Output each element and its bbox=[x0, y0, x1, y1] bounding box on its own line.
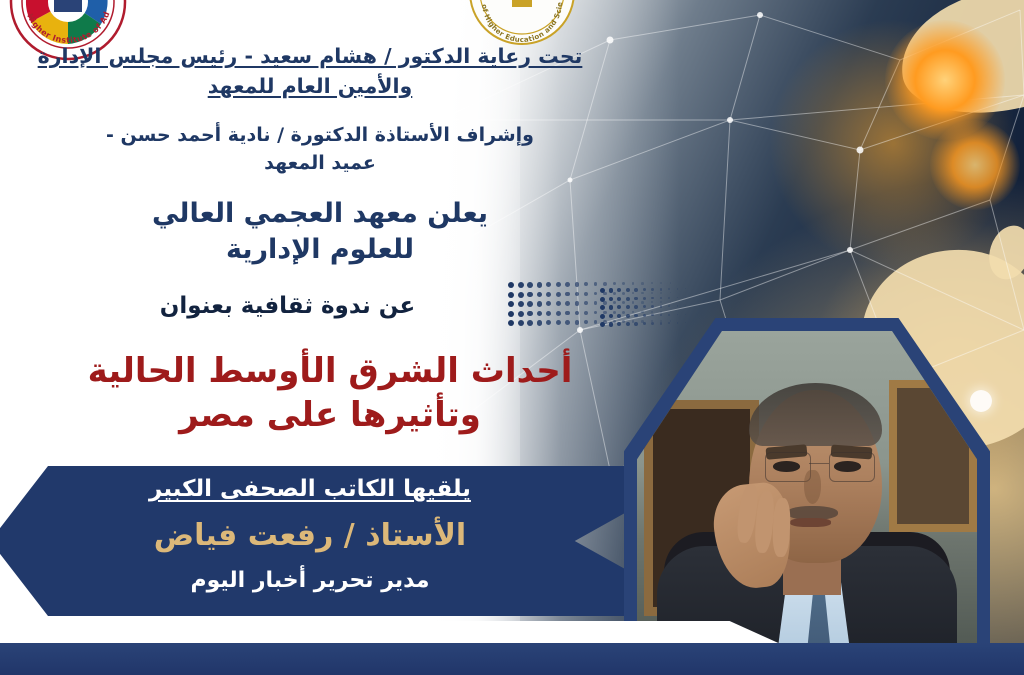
ministry-seal-logo: of Higher Education and Scientific Resea… bbox=[468, 0, 576, 46]
page-title: أحداث الشرق الأوسط الحالية وتأثيرها على … bbox=[0, 350, 660, 437]
title-line-2: وتأثيرها على مصر bbox=[0, 394, 660, 438]
patron-text: تحت رعاية الدكتور / هشام سعيد - رئيس مجل… bbox=[0, 42, 620, 101]
seminar-subtitle: عن ندوة ثقافية بعنوان bbox=[0, 292, 575, 322]
speaker-role: مدير تحرير أخبار اليوم bbox=[30, 568, 590, 593]
speaker-name: الأستاذ / رفعت فياض bbox=[30, 518, 590, 553]
seminar-poster: Higher Institute of Administrative Scien… bbox=[0, 0, 1024, 675]
announce-line-2: للعلوم الإدارية bbox=[0, 232, 640, 268]
speaker-intro: يلقيها الكاتب الصحفى الكبير bbox=[30, 476, 590, 502]
footer-bar bbox=[0, 643, 1024, 675]
supervisor-line-2: عميد المعهد bbox=[0, 150, 640, 178]
supervisor-text: وإشراف الأستاذة الدكتورة / نادية أحمد حس… bbox=[0, 122, 640, 177]
patron-line-1: تحت رعاية الدكتور / هشام سعيد - رئيس مجل… bbox=[0, 42, 620, 72]
announcement-text: يعلن معهد العجمي العالي للعلوم الإدارية bbox=[0, 196, 640, 269]
announce-line-1: يعلن معهد العجمي العالي bbox=[0, 196, 640, 232]
patron-line-2: والأمين العام للمعهد bbox=[0, 72, 620, 102]
supervisor-line-1: وإشراف الأستاذة الدكتورة / نادية أحمد حس… bbox=[0, 122, 640, 150]
title-line-1: أحداث الشرق الأوسط الحالية bbox=[0, 350, 660, 394]
